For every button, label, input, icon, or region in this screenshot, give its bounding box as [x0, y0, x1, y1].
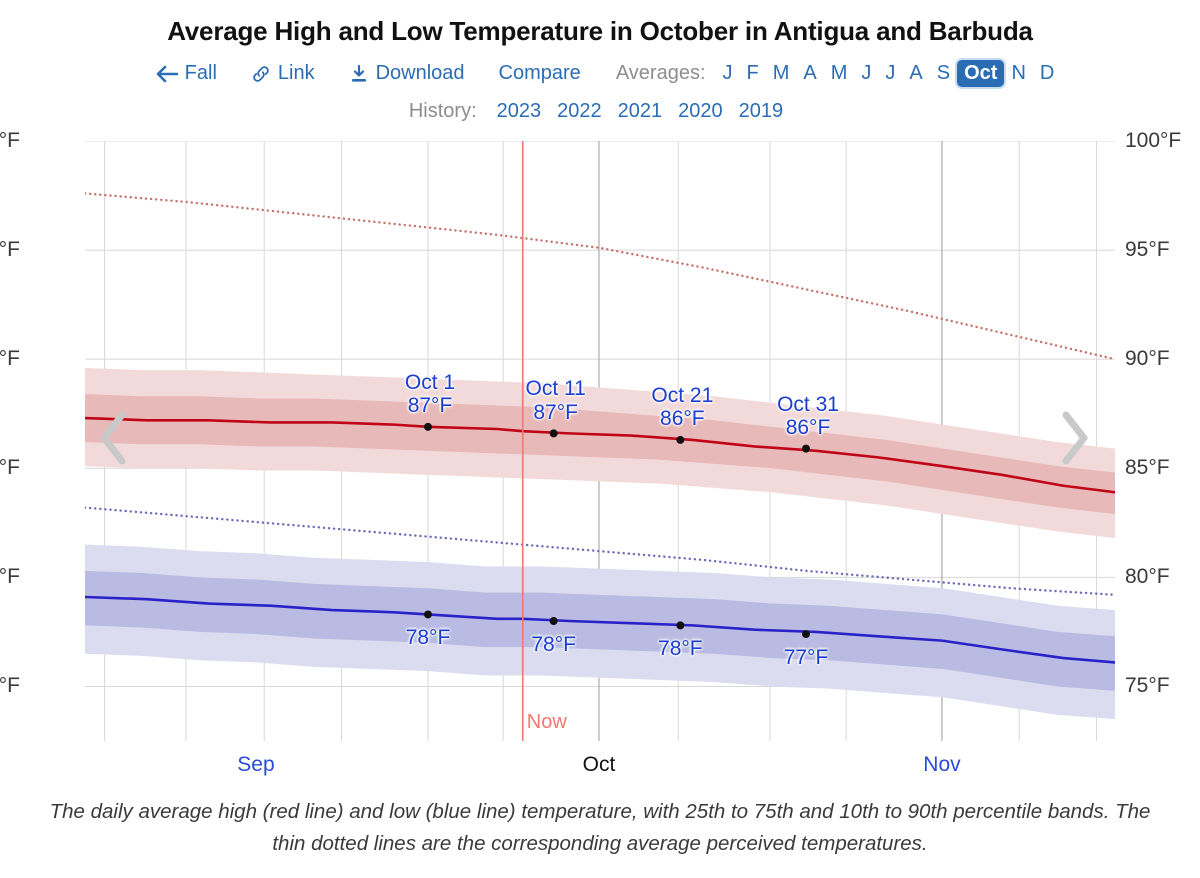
chart-caption: The daily average high (red line) and lo… [40, 796, 1160, 860]
temperature-chart-page: Average High and Low Temperature in Octo… [0, 0, 1200, 878]
y-axis-label-right-90: 90°F [1125, 348, 1170, 369]
annotation-low-oct-21: 78°F [658, 637, 703, 661]
history-label: History: [409, 100, 489, 123]
next-month-arrow[interactable] [1057, 409, 1091, 467]
link-button[interactable]: Link [234, 62, 332, 85]
y-axis-label-right-100: 100°F [1125, 130, 1181, 151]
month-2[interactable]: M [766, 60, 797, 87]
annotation-date: Oct 31 [777, 393, 839, 417]
page-title: Average High and Low Temperature in Octo… [0, 16, 1200, 47]
month-5[interactable]: J [854, 60, 878, 87]
datapoint-low-oct-21 [676, 621, 684, 629]
datapoint-high-oct-1 [424, 423, 432, 431]
month-6[interactable]: J [878, 60, 902, 87]
annotation-low-oct-11: 78°F [531, 633, 576, 657]
history-years: 20232022202120202019 [489, 100, 792, 123]
datapoint-low-oct-1 [424, 610, 432, 618]
annotation-high-oct-21: Oct 2186°F [651, 384, 713, 431]
series-average-perceived-high [85, 193, 1115, 359]
month-11[interactable]: D [1033, 60, 1061, 87]
x-axis-month-nov[interactable]: Nov [923, 753, 960, 777]
annotation-value: 86°F [651, 407, 713, 431]
annotation-high-oct-31: Oct 3186°F [777, 393, 839, 440]
datapoint-high-oct-11 [550, 429, 558, 437]
averages-label: Averages: [598, 62, 716, 85]
chevron-right-icon [1057, 409, 1091, 467]
y-axis-label-right-95: 95°F [1125, 239, 1170, 260]
y-axis-label-left-100: 100°F [0, 130, 20, 151]
month-7[interactable]: A [902, 60, 929, 87]
annotation-high-oct-1: Oct 187°F [405, 371, 455, 418]
month-1[interactable]: F [740, 60, 766, 87]
month-3[interactable]: A [796, 60, 823, 87]
annotation-value: 87°F [405, 394, 455, 418]
download-button[interactable]: Download [332, 62, 482, 85]
history-year-2022[interactable]: 2022 [549, 100, 610, 123]
toolbar: Fall Link Download Compare Averages: JFM… [0, 60, 1200, 87]
prev-month-arrow[interactable] [97, 409, 131, 467]
chart-svg [85, 141, 1115, 741]
y-axis-label-left-85: 85°F [0, 457, 20, 478]
annotation-value: 78°F [658, 637, 703, 661]
annotation-date: Oct 1 [405, 371, 455, 395]
back-to-fall-label: Fall [185, 62, 217, 85]
datapoint-low-oct-31 [802, 630, 810, 638]
annotation-value: 78°F [531, 633, 576, 657]
chart-area: 100°F100°F95°F95°F90°F90°F85°F85°F80°F80… [85, 141, 1115, 741]
y-axis-label-left-95: 95°F [0, 239, 20, 260]
annotation-value: 78°F [406, 626, 451, 650]
annotation-low-oct-1: 78°F [406, 626, 451, 650]
history-row: History: 20232022202120202019 [0, 100, 1200, 123]
y-axis-label-left-80: 80°F [0, 566, 20, 587]
y-axis-label-left-90: 90°F [0, 348, 20, 369]
download-label: Download [376, 62, 465, 85]
history-year-2021[interactable]: 2021 [610, 100, 671, 123]
annotation-date: Oct 21 [651, 384, 713, 408]
annotation-value: 77°F [784, 646, 829, 670]
back-to-fall-button[interactable]: Fall [139, 62, 234, 85]
compare-label: Compare [499, 62, 581, 85]
link-label: Link [278, 62, 315, 85]
plot: 100°F100°F95°F95°F90°F90°F85°F85°F80°F80… [85, 141, 1115, 741]
history-year-2023[interactable]: 2023 [489, 100, 550, 123]
y-axis-label-right-85: 85°F [1125, 457, 1170, 478]
month-8[interactable]: S [930, 60, 957, 87]
datapoint-high-oct-21 [676, 436, 684, 444]
annotation-value: 87°F [525, 401, 585, 425]
month-10[interactable]: N [1004, 60, 1032, 87]
x-axis-month-oct: Oct [583, 753, 616, 777]
annotation-high-oct-11: Oct 1187°F [525, 377, 585, 424]
download-icon [349, 64, 369, 84]
annotation-value: 86°F [777, 416, 839, 440]
month-4[interactable]: M [824, 60, 855, 87]
link-icon [251, 64, 271, 84]
datapoint-low-oct-11 [550, 617, 558, 625]
y-axis-label-right-80: 80°F [1125, 566, 1170, 587]
compare-button[interactable]: Compare [482, 62, 598, 85]
month-0[interactable]: J [716, 60, 740, 87]
y-axis-label-left-75: 75°F [0, 675, 20, 696]
month-active-9[interactable]: Oct [957, 60, 1004, 87]
now-label: Now [527, 711, 567, 734]
y-axis-label-right-75: 75°F [1125, 675, 1170, 696]
annotation-low-oct-31: 77°F [784, 646, 829, 670]
month-selector: JFMAMJJASOctND [716, 60, 1062, 87]
history-year-2019[interactable]: 2019 [731, 100, 792, 123]
annotation-date: Oct 11 [525, 377, 585, 401]
arrow-left-icon [156, 65, 178, 83]
datapoint-high-oct-31 [802, 445, 810, 453]
history-year-2020[interactable]: 2020 [670, 100, 731, 123]
x-axis-month-sep[interactable]: Sep [237, 753, 274, 777]
chevron-left-icon [97, 409, 131, 467]
